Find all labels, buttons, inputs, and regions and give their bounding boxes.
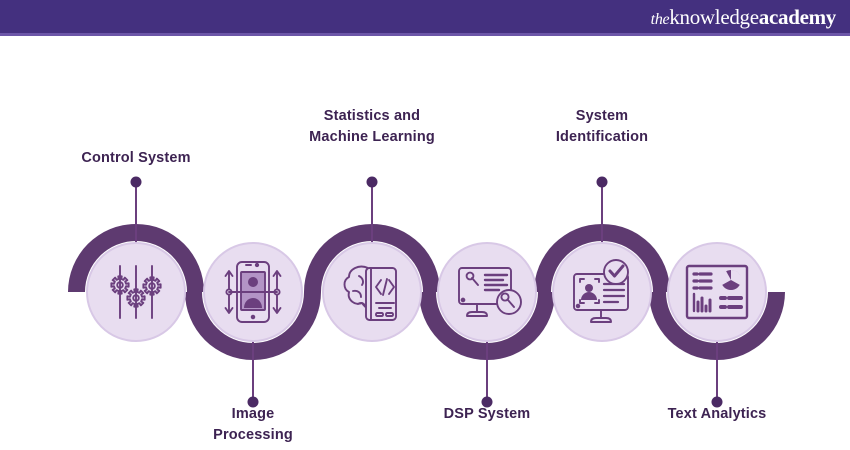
node-label-control-system: Control System bbox=[81, 148, 190, 169]
connector-dot-statistics-machine-learning bbox=[367, 177, 378, 188]
phone-camera bbox=[256, 264, 258, 266]
node-label-statistics-machine-learning: Statistics and Machine Learning bbox=[309, 106, 435, 148]
connector-dot-control-system bbox=[131, 177, 142, 188]
phone-home bbox=[252, 316, 255, 319]
id-monitor-led bbox=[577, 305, 580, 308]
node-circle-text-analytics[interactable] bbox=[668, 243, 766, 341]
node-label-system-identification: System Identification bbox=[556, 106, 648, 148]
connector-dot-system-identification bbox=[597, 177, 608, 188]
brand-logo[interactable]: theknowledgeacademy bbox=[651, 5, 836, 30]
node-label-image-processing: Image Processing bbox=[213, 404, 293, 446]
logo-knowledge: knowledge bbox=[669, 5, 758, 29]
node-circle-dsp-system[interactable] bbox=[438, 243, 536, 341]
node-label-text-analytics: Text Analytics bbox=[668, 404, 767, 425]
wave-diagram-svg bbox=[0, 36, 850, 450]
infographic-stage: Control SystemImage ProcessingStatistics… bbox=[0, 36, 850, 450]
id-person-head bbox=[585, 284, 593, 292]
node-label-dsp-system: DSP System bbox=[444, 404, 531, 425]
node-circle-system-identification[interactable] bbox=[553, 243, 651, 341]
logo-academy: academy bbox=[759, 5, 836, 29]
logo-the: the bbox=[651, 11, 670, 28]
person-head bbox=[248, 277, 258, 287]
monitor-led bbox=[462, 299, 465, 302]
